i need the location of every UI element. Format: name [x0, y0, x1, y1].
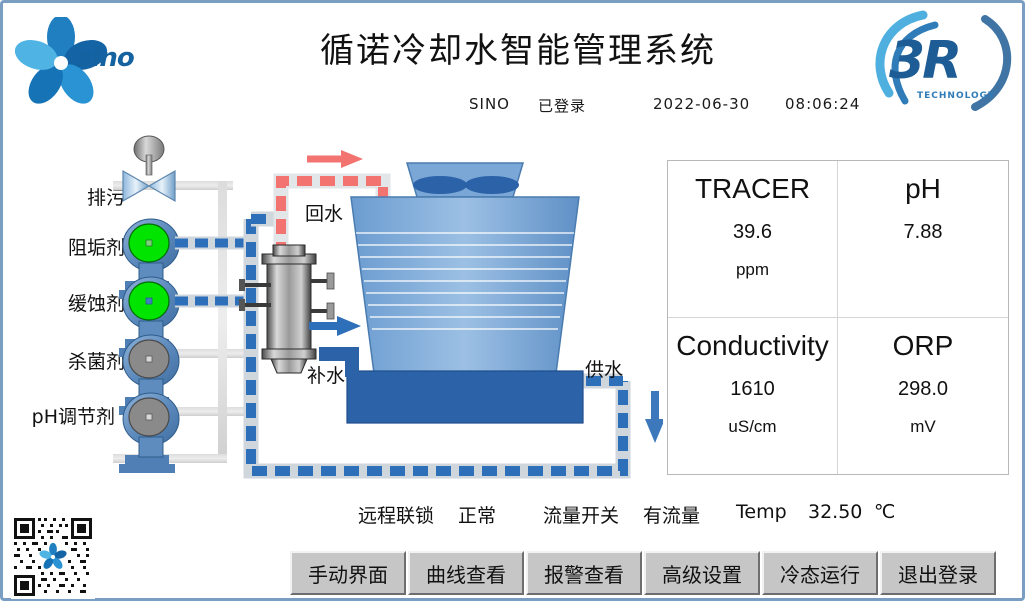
sino-logo-text: sino	[77, 43, 134, 73]
hmi-screen: sino 循诺冷却水智能管理系统 SINO 已登录 2022-06-30 08:…	[0, 0, 1025, 601]
remote-interlock-label: 远程联锁	[358, 501, 434, 528]
supply-flow-arrow-icon	[645, 391, 663, 443]
cooling-tower-fan-icon	[407, 163, 523, 197]
measurement-cell-conductivity[interactable]: Conductivity 1610 uS/cm	[668, 318, 838, 475]
measurement-name: pH	[905, 173, 941, 205]
measurement-panel: TRACER 39.6 ppm pH 7.88 Conductivity 161…	[667, 160, 1009, 475]
manual-interface-button[interactable]: 手动界面	[290, 551, 406, 595]
temp-unit: ℃	[874, 501, 895, 523]
measurement-cell-orp[interactable]: ORP 298.0 mV	[838, 318, 1008, 475]
measurement-unit: uS/cm	[728, 417, 776, 437]
temp-value: 32.50	[808, 501, 862, 523]
measurement-name: TRACER	[695, 173, 810, 205]
login-status: 已登录	[538, 95, 586, 116]
makeup-flow-arrow-icon	[309, 316, 361, 336]
makeup-water-label: 补水	[307, 361, 345, 388]
process-flow-diagram	[3, 123, 663, 483]
trend-curve-button[interactable]: 曲线查看	[408, 551, 524, 595]
alarm-view-button[interactable]: 报警查看	[526, 551, 642, 595]
measurement-unit: mV	[910, 417, 936, 437]
measurement-name: Conductivity	[676, 330, 829, 362]
current-user: SINO	[469, 95, 510, 113]
3r-logo-subtext: TECHNOLOGY	[917, 91, 995, 101]
cooling-tower	[319, 163, 583, 423]
advanced-settings-button[interactable]: 高级设置	[644, 551, 760, 595]
flow-switch-value: 有流量	[643, 501, 700, 528]
measurement-name: ORP	[893, 330, 954, 362]
3r-technology-logo: 3R TECHNOLOGY	[865, 9, 1017, 119]
logout-button[interactable]: 退出登录	[880, 551, 996, 595]
dosing-line-biocide	[171, 349, 251, 358]
return-water-label: 回水	[305, 199, 343, 226]
measurement-unit: ppm	[736, 260, 769, 280]
blowdown-valve-icon[interactable]	[123, 136, 175, 201]
dosing-line-ph	[171, 407, 251, 416]
measurement-value: 7.88	[904, 221, 943, 244]
temp-label: Temp	[736, 501, 787, 523]
button-bar: 手动界面 曲线查看 报警查看 高级设置 冷态运行 退出登录	[290, 551, 996, 595]
system-date: 2022-06-30	[653, 95, 750, 113]
page-title: 循诺冷却水智能管理系统	[273, 23, 763, 72]
system-time: 08:06:24	[785, 95, 860, 113]
supply-water-label: 供水	[585, 355, 623, 382]
measurement-value: 1610	[730, 378, 775, 401]
3r-logo-text: 3R	[889, 31, 959, 91]
remote-interlock-value: 正常	[458, 501, 496, 528]
qr-code[interactable]	[11, 515, 95, 599]
measurement-value: 39.6	[733, 221, 772, 244]
return-flow-arrow-icon	[307, 150, 363, 168]
measurement-cell-ph[interactable]: pH 7.88	[838, 161, 1008, 318]
cold-start-button[interactable]: 冷态运行	[762, 551, 878, 595]
measurement-value: 298.0	[898, 378, 948, 401]
header: sino 循诺冷却水智能管理系统 SINO 已登录 2022-06-30 08:…	[3, 3, 1022, 125]
sino-logo: sino	[15, 17, 145, 105]
flow-switch-label: 流量开关	[543, 501, 619, 528]
measurement-cell-tracer[interactable]: TRACER 39.6 ppm	[668, 161, 838, 318]
qr-code-icon	[11, 515, 95, 599]
